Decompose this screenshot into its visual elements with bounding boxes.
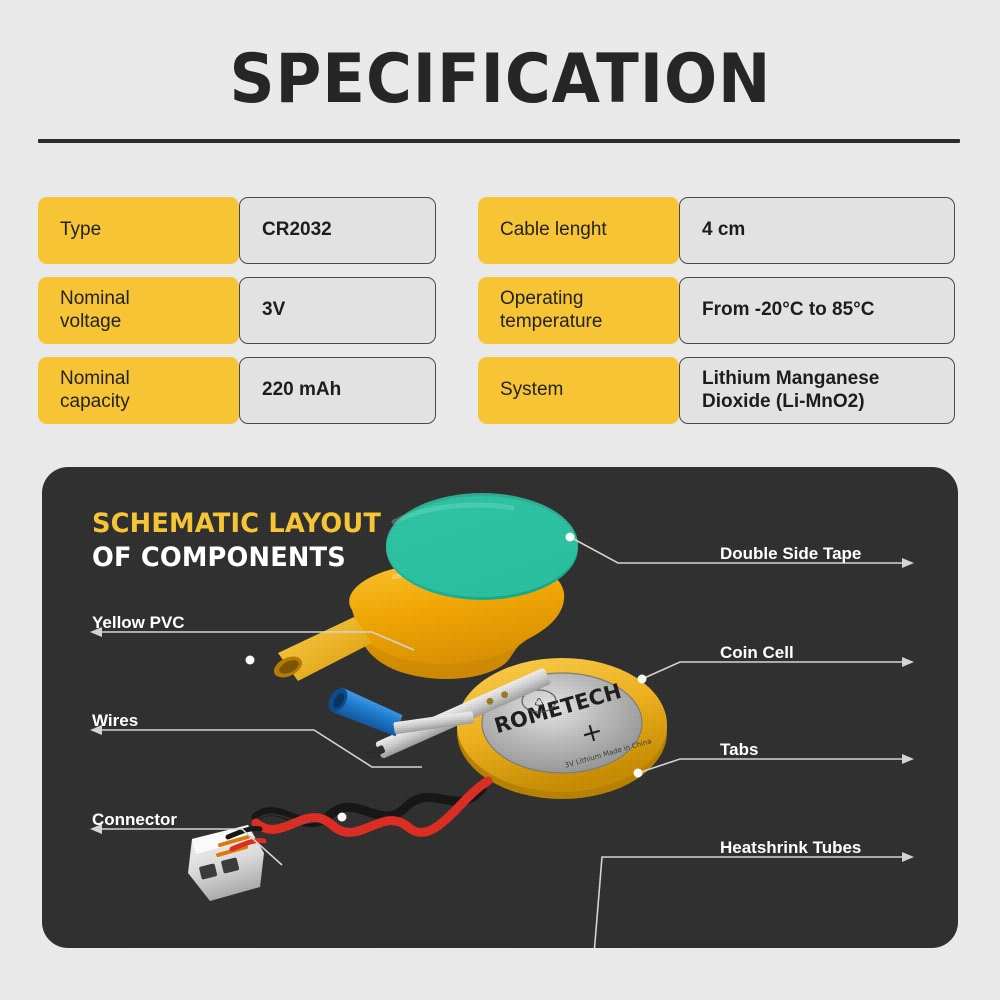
spec-value-type: CR2032 — [239, 197, 436, 264]
spec-label-text: Nominalvoltage — [60, 288, 130, 333]
spec-label-text: System — [500, 379, 563, 401]
spec-label-operating-temperature: Operatingtemperature — [478, 277, 679, 344]
column-gap — [436, 197, 478, 264]
column-gap — [436, 277, 478, 344]
schematic-heading-line1: SCHEMATIC LAYOUT — [92, 509, 381, 539]
schematic-heading-line2: OF COMPONENTS — [92, 543, 381, 573]
spec-value-cable-lenght: 4 cm — [679, 197, 955, 264]
spec-value-text: Lithium ManganeseDioxide (Li-MnO2) — [702, 368, 879, 413]
spec-value-system: Lithium ManganeseDioxide (Li-MnO2) — [679, 357, 955, 424]
spec-value-text: CR2032 — [262, 219, 332, 241]
title-divider — [38, 139, 960, 143]
spec-value-text: 220 mAh — [262, 379, 341, 401]
spec-label-text: Cable lenght — [500, 219, 607, 241]
column-gap — [436, 357, 478, 424]
page-title-container: SPECIFICATION — [0, 46, 1000, 114]
callout-label-tabs: Tabs — [720, 740, 758, 760]
leader-wires — [96, 730, 422, 767]
specification-table: Type CR2032 Cable lenght 4 cm Nominalvol… — [38, 197, 962, 424]
spec-value-text: From -20°C to 85°C — [702, 299, 875, 321]
spec-label-text: Operatingtemperature — [500, 288, 602, 333]
spec-label-type: Type — [38, 197, 239, 264]
leader-arrowheads-right — [902, 558, 914, 862]
callout-label-double-side-tape: Double Side Tape — [720, 544, 861, 564]
spec-label-nominal-voltage: Nominalvoltage — [38, 277, 239, 344]
schematic-heading: SCHEMATIC LAYOUT OF COMPONENTS — [92, 509, 396, 573]
spec-value-text: 4 cm — [702, 219, 745, 241]
leader-coin-cell — [642, 662, 908, 679]
callout-label-coin-cell: Coin Cell — [720, 643, 794, 663]
callout-label-connector: Connector — [92, 810, 177, 830]
leader-heatshrink-tubes — [562, 857, 908, 948]
spec-value-nominal-voltage: 3V — [239, 277, 436, 344]
schematic-panel: ROMETECH + 3V Lithium Made in China ♺ — [42, 467, 958, 948]
leader-anchor-dots — [246, 533, 647, 949]
spec-value-operating-temperature: From -20°C to 85°C — [679, 277, 955, 344]
leader-tabs — [638, 759, 908, 773]
spec-label-system: System — [478, 357, 679, 424]
spec-value-nominal-capacity: 220 mAh — [239, 357, 436, 424]
leader-connector — [96, 829, 282, 865]
callout-label-yellow-pvc: Yellow PVC — [92, 613, 185, 633]
callout-label-wires: Wires — [92, 711, 138, 731]
spec-label-cable-lenght: Cable lenght — [478, 197, 679, 264]
spec-label-text: Type — [60, 219, 101, 241]
callout-label-heatshrink-tubes: Heatshrink Tubes — [720, 838, 861, 858]
leader-yellow-pvc — [96, 632, 414, 650]
spec-value-text: 3V — [262, 299, 285, 321]
spec-label-nominal-capacity: Nominalcapacity — [38, 357, 239, 424]
spec-label-text: Nominalcapacity — [60, 368, 130, 413]
page-title: SPECIFICATION — [229, 46, 771, 114]
